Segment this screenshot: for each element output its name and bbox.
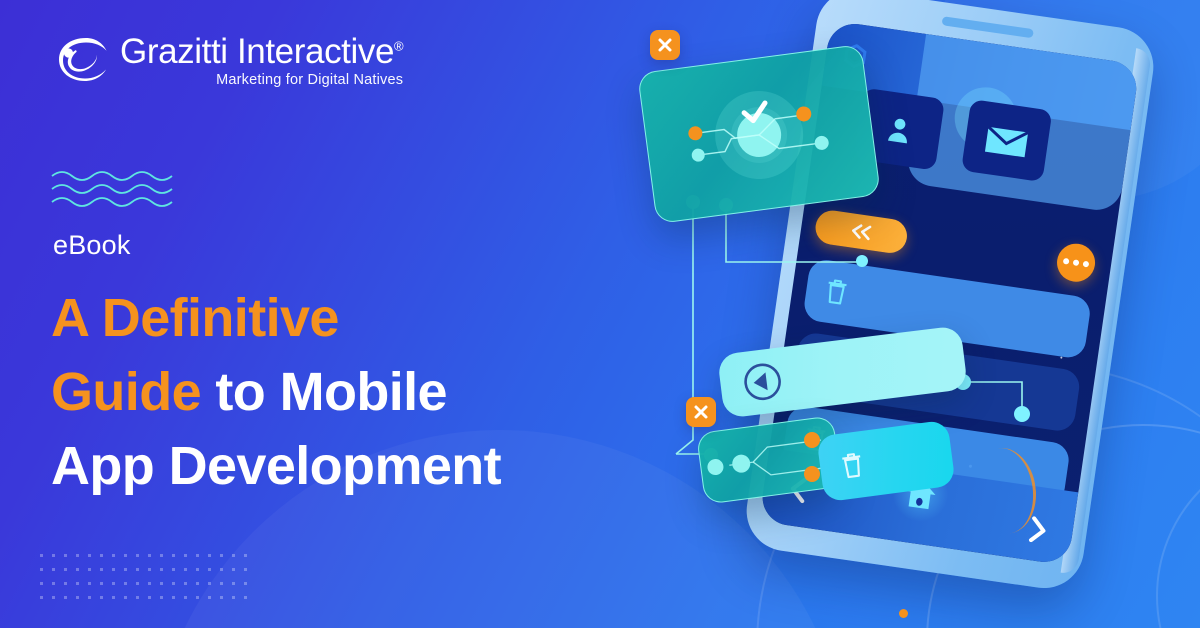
- dot-grid-cell: [196, 582, 199, 585]
- dot-grid-cell: [112, 554, 115, 557]
- dot-grid-cell: [40, 582, 43, 585]
- dot-grid-cell: [172, 568, 175, 571]
- circled-play-back-icon: [740, 360, 785, 405]
- dot-grid-cell: [196, 554, 199, 557]
- dot-grid-cell: [52, 568, 55, 571]
- chevron-right-icon: [1027, 516, 1049, 544]
- title-line-2-accent: Guide: [51, 362, 201, 422]
- dot-grid-cell: [64, 568, 67, 571]
- dot-grid-cell: [184, 596, 187, 599]
- dot-grid-cell: [244, 554, 247, 557]
- orange-speck: [899, 609, 908, 618]
- trash-bin-icon: [823, 276, 851, 307]
- dot-grid-cell: [244, 582, 247, 585]
- orange-node-dot: [804, 432, 820, 448]
- title-line-1: A Definitive: [51, 288, 339, 348]
- dot-grid-cell: [76, 554, 79, 557]
- dot-grid-cell: [220, 568, 223, 571]
- dot-grid-cell: [40, 554, 43, 557]
- dot-grid-decoration-icon: [40, 554, 260, 618]
- dot-grid-cell: [208, 568, 211, 571]
- dot-grid-cell: [232, 568, 235, 571]
- ellipsis-dot: [1073, 259, 1080, 266]
- dot-grid-cell: [196, 568, 199, 571]
- dot-grid-cell: [76, 582, 79, 585]
- envelope-mail-icon: [984, 123, 1030, 159]
- dot-grid-cell: [88, 596, 91, 599]
- dot-grid-cell: [88, 582, 91, 585]
- brand-logo[interactable]: Grazitti Interactive® Marketing for Digi…: [56, 30, 403, 88]
- dot-grid-cell: [124, 596, 127, 599]
- dot-grid-cell: [232, 582, 235, 585]
- page-title: A Definitive Guide to Mobile App Develop…: [51, 281, 691, 503]
- dot-grid-cell: [112, 568, 115, 571]
- user-profile-icon: [884, 113, 914, 144]
- dot-grid-cell: [88, 568, 91, 571]
- dot-grid-cell: [172, 554, 175, 557]
- brand-name: Grazitti Interactive®: [120, 30, 403, 74]
- previous-pill-button[interactable]: [813, 208, 909, 255]
- dot-grid-cell: [64, 582, 67, 585]
- dot-grid-cell: [160, 568, 163, 571]
- dot-grid-cell: [208, 554, 211, 557]
- dot-grid-cell: [52, 596, 55, 599]
- dot-grid-cell: [184, 582, 187, 585]
- brand-tagline: Marketing for Digital Natives: [120, 72, 403, 88]
- dot-grid-cell: [148, 582, 151, 585]
- double-chevron-left-icon: [847, 222, 875, 242]
- dot-grid-cell: [136, 568, 139, 571]
- dot-grid-cell: [148, 568, 151, 571]
- dot-grid-cell: [124, 554, 127, 557]
- nav-forward[interactable]: [1027, 516, 1049, 544]
- dot-grid-cell: [52, 554, 55, 557]
- close-x-icon: [693, 404, 709, 420]
- more-options-button[interactable]: [1055, 241, 1098, 284]
- dot-grid-cell: [208, 596, 211, 599]
- dot-grid-cell: [100, 582, 103, 585]
- dot-grid-cell: [244, 596, 247, 599]
- dot-grid-cell: [124, 568, 127, 571]
- wavy-lines-decoration-icon: [50, 168, 174, 210]
- dot-grid-cell: [232, 596, 235, 599]
- dot-grid-cell: [40, 568, 43, 571]
- dot-grid-cell: [100, 568, 103, 571]
- grazitti-swirl-logo-icon: [56, 34, 112, 86]
- dot-grid-cell: [184, 568, 187, 571]
- dot-grid-cell: [136, 596, 139, 599]
- close-x-icon: [657, 37, 673, 53]
- dot-grid-cell: [208, 582, 211, 585]
- dot-grid-cell: [148, 554, 151, 557]
- orange-node-dot: [804, 466, 820, 482]
- dot-grid-cell: [100, 554, 103, 557]
- dot-grid-cell: [124, 582, 127, 585]
- dot-grid-cell: [160, 582, 163, 585]
- title-line-3: App Development: [51, 436, 501, 496]
- ellipsis-dot: [1063, 258, 1070, 265]
- dot-grid-cell: [220, 596, 223, 599]
- dot-grid-cell: [52, 582, 55, 585]
- dot-grid-cell: [112, 582, 115, 585]
- dot-grid-cell: [220, 582, 223, 585]
- close-badge-bottom[interactable]: [686, 397, 716, 427]
- dot-grid-cell: [136, 554, 139, 557]
- dot-grid-cell: [172, 582, 175, 585]
- dot-grid-cell: [76, 596, 79, 599]
- tile-mail[interactable]: [961, 99, 1052, 182]
- dot-grid-cell: [64, 554, 67, 557]
- close-badge-top[interactable]: [650, 30, 680, 60]
- ellipsis-dot: [1083, 261, 1090, 268]
- dot-grid-cell: [100, 596, 103, 599]
- dot-grid-cell: [88, 554, 91, 557]
- dot-grid-cell: [64, 596, 67, 599]
- dot-grid-cell: [232, 554, 235, 557]
- dot-grid-cell: [184, 554, 187, 557]
- dot-grid-cell: [148, 596, 151, 599]
- dot-grid-cell: [136, 582, 139, 585]
- dot-grid-cell: [160, 596, 163, 599]
- dot-grid-cell: [172, 596, 175, 599]
- dot-grid-cell: [112, 596, 115, 599]
- title-line-2-rest: to Mobile: [201, 362, 447, 422]
- dot-grid-cell: [76, 568, 79, 571]
- dot-grid-cell: [160, 554, 163, 557]
- dot-grid-cell: [40, 596, 43, 599]
- dot-grid-cell: [220, 554, 223, 557]
- ebook-promo-banner: Grazitti Interactive® Marketing for Digi…: [0, 0, 1200, 628]
- brand-name-text: Grazitti Interactive: [120, 32, 394, 71]
- trash-bin-icon: [839, 450, 866, 481]
- page-kicker: eBook: [53, 230, 131, 261]
- registered-mark: ®: [394, 38, 403, 53]
- dot-grid-cell: [196, 596, 199, 599]
- dot-grid-cell: [244, 568, 247, 571]
- network-nodes-check-icon: [638, 45, 880, 223]
- network-node-card[interactable]: [637, 44, 881, 224]
